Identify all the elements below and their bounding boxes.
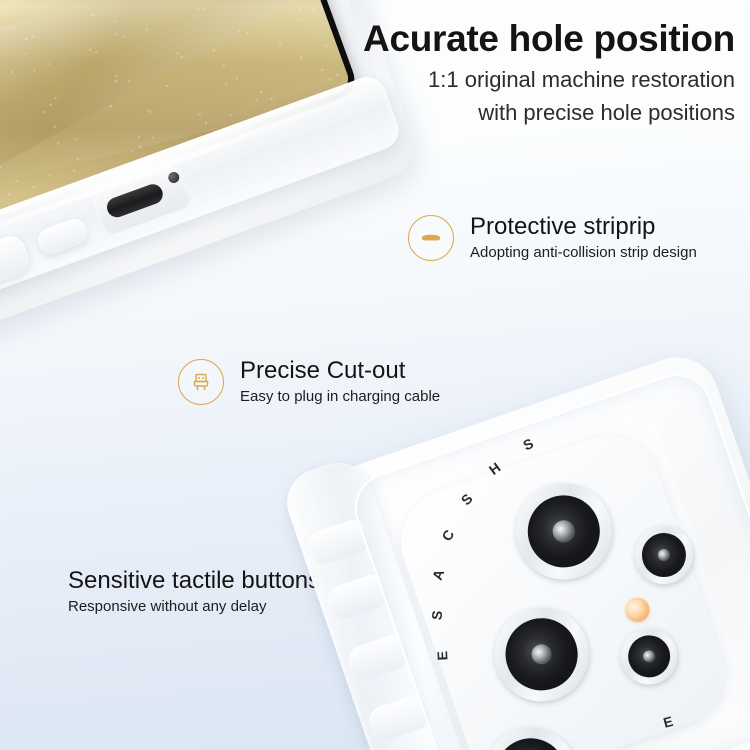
- lens-glint: [550, 518, 577, 545]
- feature-title: Sensitive tactile buttons: [68, 568, 320, 594]
- usb-connector-icon: [178, 359, 224, 405]
- camera-lens-small-lower: [614, 621, 685, 692]
- headline-subtitle-line-2: with precise hole positions: [250, 98, 735, 127]
- feature-subtitle: Easy to plug in charging cable: [240, 388, 440, 406]
- page-title: Acurate hole position: [250, 18, 735, 61]
- feature-title: Protective striprip: [470, 214, 697, 240]
- camera-flash-led: [622, 594, 653, 625]
- product-feature-poster: Acurate hole position 1:1 original machi…: [0, 0, 750, 750]
- headline-block: Acurate hole position 1:1 original machi…: [250, 18, 735, 127]
- camera-lens-main: [503, 470, 625, 592]
- lens-glint: [656, 547, 672, 563]
- lens-glint: [528, 641, 554, 667]
- brand-letter: S: [428, 610, 445, 621]
- camera-lens-wide: [482, 595, 601, 714]
- lens-glint: [641, 649, 657, 665]
- bumper-strip-icon: [408, 215, 454, 261]
- feature-subtitle: Responsive without any delay: [68, 598, 266, 616]
- feature-protective-strip: Protective striprip Adopting anti-collis…: [408, 214, 697, 262]
- camera-lens-telephoto: [472, 715, 589, 750]
- feature-subtitle: Adopting anti-collision strip design: [470, 244, 697, 262]
- brand-letter: E: [434, 651, 450, 661]
- feature-title: Precise Cut-out: [240, 358, 440, 384]
- feature-precise-cutout: Precise Cut-out Easy to plug in charging…: [178, 358, 440, 406]
- headline-subtitle-line-1: 1:1 original machine restoration: [250, 65, 735, 94]
